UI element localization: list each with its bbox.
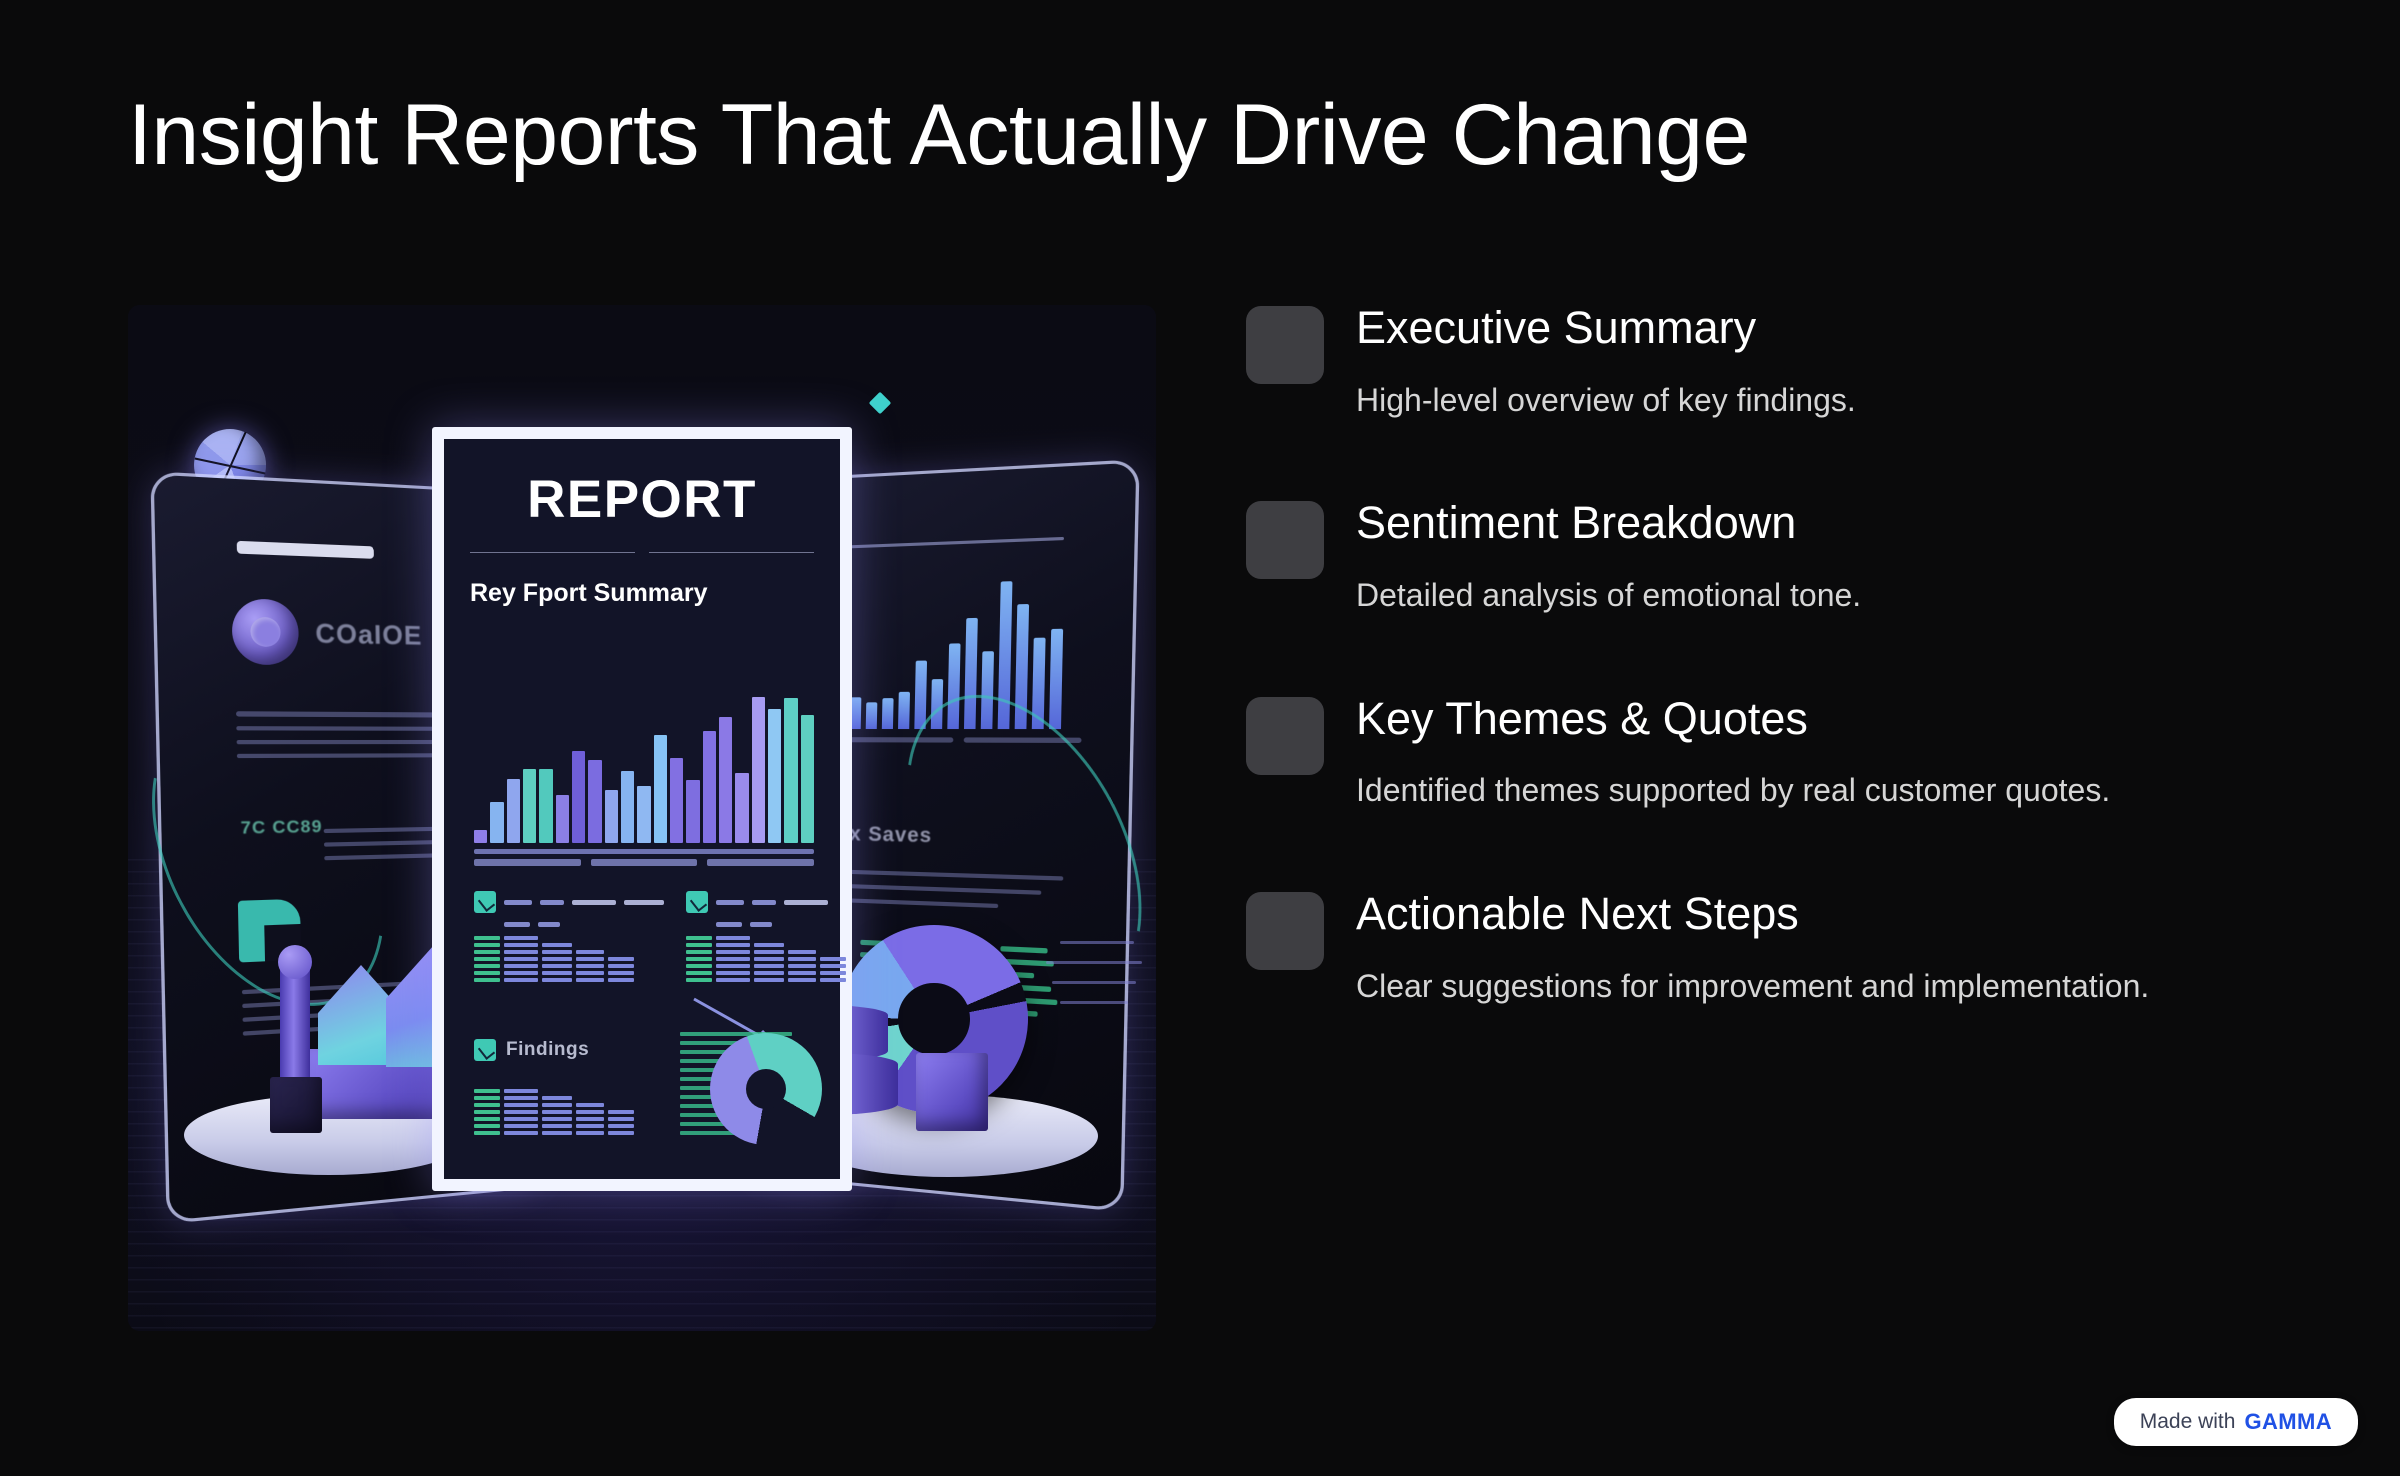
feature-marker-icon bbox=[1246, 697, 1324, 775]
report-card-chip-row bbox=[686, 891, 846, 913]
report-card-chip-row bbox=[716, 922, 846, 927]
feature-title: Key Themes & Quotes bbox=[1356, 693, 2306, 745]
made-with-gamma-badge[interactable]: Made with GAMMA bbox=[2114, 1398, 2358, 1446]
report-card-chip-row bbox=[504, 922, 664, 927]
right-prop-text-line bbox=[1046, 961, 1142, 964]
check-chip-icon bbox=[474, 891, 496, 913]
check-chip-icon bbox=[474, 1039, 496, 1061]
report-card-detail-column bbox=[474, 891, 664, 982]
feature-item-sentiment-breakdown[interactable]: Sentiment Breakdown Detailed analysis of… bbox=[1246, 497, 2306, 616]
right-prop-text-line bbox=[1052, 981, 1136, 984]
page-title: Insight Reports That Actually Drive Chan… bbox=[128, 88, 1750, 183]
feature-marker-icon bbox=[1246, 892, 1324, 970]
report-card-subheading: Rey Fport Summary bbox=[470, 577, 814, 609]
report-card-findings-row: Findings bbox=[474, 1039, 589, 1061]
feature-item-executive-summary[interactable]: Executive Summary High-level overview of… bbox=[1246, 302, 2306, 421]
slide-root: Insight Reports That Actually Drive Chan… bbox=[0, 0, 2400, 1476]
report-card-detail-columns bbox=[474, 891, 814, 982]
report-card-mini-grid bbox=[474, 936, 664, 982]
pin-prop-stem bbox=[280, 961, 310, 1091]
report-card-findings-label: Findings bbox=[506, 1039, 589, 1061]
left-board-logo-icon bbox=[231, 598, 299, 665]
feature-description: High-level overview of key findings. bbox=[1356, 380, 2306, 422]
feature-description: Clear suggestions for improvement and im… bbox=[1356, 966, 2306, 1008]
left-board-title-bar bbox=[237, 541, 374, 559]
report-card: REPORT Rey Fport Summary bbox=[432, 427, 852, 1191]
left-board-text-line bbox=[236, 711, 454, 717]
report-card-mini-grid bbox=[686, 936, 846, 982]
feature-description: Detailed analysis of emotional tone. bbox=[1356, 575, 2306, 617]
feature-marker-icon bbox=[1246, 501, 1324, 579]
badge-prefix: Made with bbox=[2140, 1410, 2236, 1434]
report-card-divider bbox=[470, 552, 814, 553]
pin-prop-head bbox=[278, 945, 312, 979]
report-card-mini-grid bbox=[474, 1089, 634, 1135]
feature-title: Executive Summary bbox=[1356, 302, 2306, 354]
feature-description: Identified themes supported by real cust… bbox=[1356, 770, 2306, 812]
badge-brand: GAMMA bbox=[2244, 1409, 2332, 1435]
report-card-axis bbox=[474, 849, 814, 871]
feature-title: Sentiment Breakdown bbox=[1356, 497, 2306, 549]
report-card-detail-column bbox=[686, 891, 846, 982]
feature-title: Actionable Next Steps bbox=[1356, 888, 2306, 940]
left-board-logo-text: COaIOE bbox=[315, 617, 423, 652]
feature-item-actionable-next-steps[interactable]: Actionable Next Steps Clear suggestions … bbox=[1246, 888, 2306, 1007]
feature-marker-icon bbox=[1246, 306, 1324, 384]
report-card-bar-chart bbox=[474, 697, 814, 843]
right-prop-text-line bbox=[1060, 1001, 1128, 1004]
report-card-donut-chart bbox=[710, 1033, 822, 1145]
check-chip-icon bbox=[686, 891, 708, 913]
feature-list: Executive Summary High-level overview of… bbox=[1246, 302, 2306, 1007]
illustration-panel: COaIOE 7C CC89 bbox=[128, 305, 1156, 1331]
right-prop-text-line bbox=[1060, 941, 1134, 944]
feature-item-key-themes-quotes[interactable]: Key Themes & Quotes Identified themes su… bbox=[1246, 693, 2306, 812]
report-card-chip-row bbox=[474, 891, 664, 913]
cube-prop bbox=[916, 1053, 988, 1131]
report-card-heading: REPORT bbox=[470, 469, 814, 530]
pin-prop-base bbox=[270, 1077, 322, 1133]
